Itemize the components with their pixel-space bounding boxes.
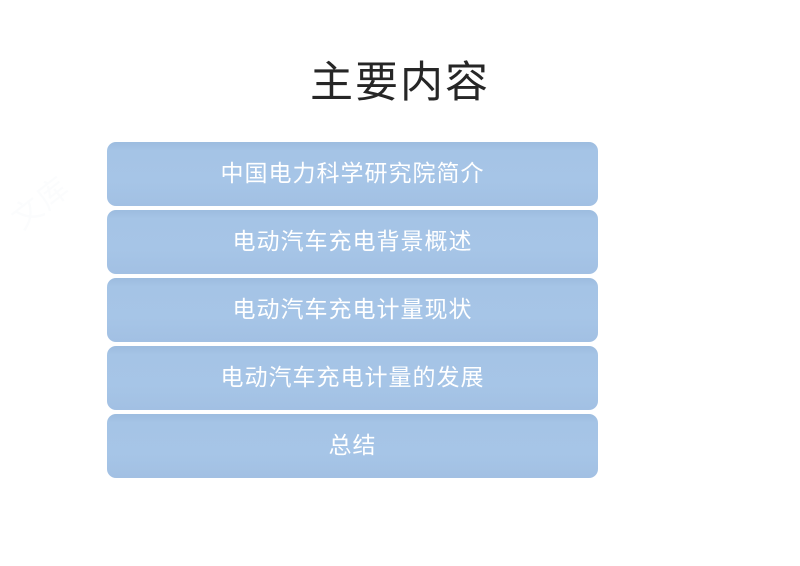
agenda-item-1[interactable]: 中国电力科学研究院简介 (107, 142, 598, 206)
agenda-item-5[interactable]: 总结 (107, 414, 598, 478)
agenda-item-4[interactable]: 电动汽车充电计量的发展 (107, 346, 598, 410)
agenda-item-label: 中国电力科学研究院简介 (221, 159, 485, 189)
agenda-item-3[interactable]: 电动汽车充电计量现状 (107, 278, 598, 342)
slide-canvas: 文库 主要内容 中国电力科学研究院简介 电动汽车充电背景概述 电动汽车充电计量现… (0, 0, 800, 566)
agenda-item-label: 电动汽车充电背景概述 (233, 227, 473, 257)
agenda-item-2[interactable]: 电动汽车充电背景概述 (107, 210, 598, 274)
agenda-item-label: 电动汽车充电计量的发展 (221, 363, 485, 393)
agenda-item-label: 总结 (329, 431, 377, 461)
agenda-item-label: 电动汽车充电计量现状 (233, 295, 473, 325)
page-title: 主要内容 (0, 58, 800, 110)
agenda-list: 中国电力科学研究院简介 电动汽车充电背景概述 电动汽车充电计量现状 电动汽车充电… (107, 142, 598, 478)
